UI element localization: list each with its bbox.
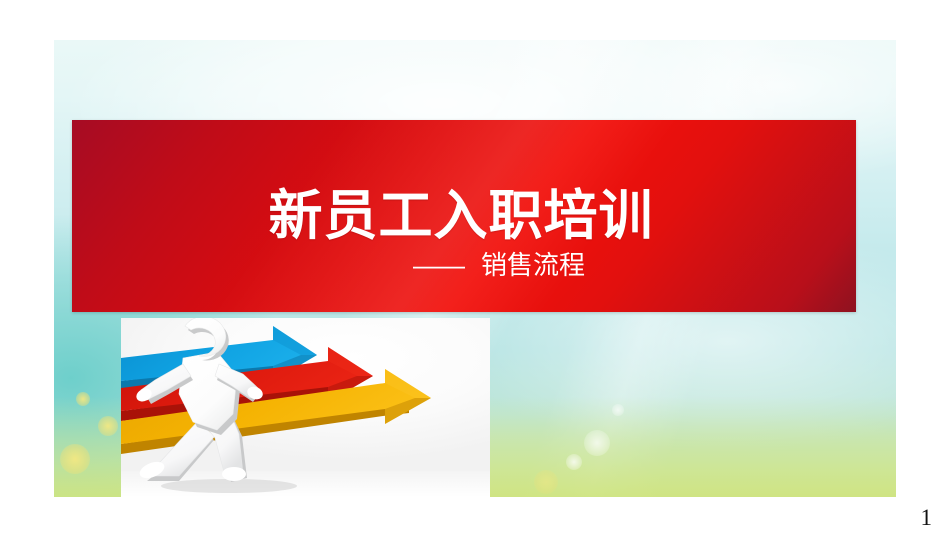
page-title: 新员工入职培训 [269, 188, 654, 245]
subtitle-dash-icon: —— [413, 251, 465, 280]
running-figure-arrows-illustration [121, 318, 490, 497]
foot-front [222, 467, 246, 481]
slide-canvas: 新员工入职培训 —— 销售流程 [54, 40, 896, 497]
page-number: 1 [921, 506, 933, 529]
figure-ground-shadow [161, 479, 297, 493]
subtitle: —— 销售流程 [413, 251, 585, 280]
title-banner: 新员工入职培训 —— 销售流程 [72, 120, 856, 312]
hero-image [121, 318, 490, 497]
subtitle-label: 销售流程 [481, 251, 585, 280]
